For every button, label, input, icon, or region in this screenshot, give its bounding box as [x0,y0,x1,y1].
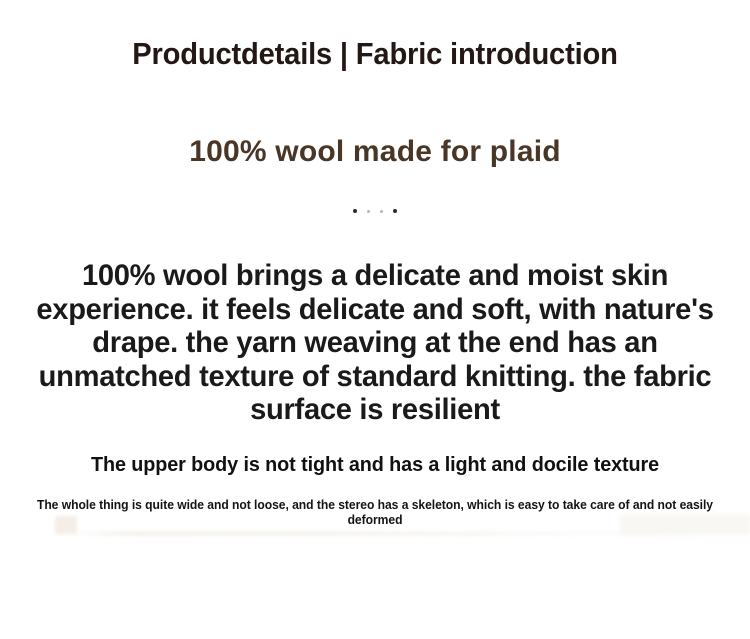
separator-dot-2 [367,210,370,213]
fine-print-note: The whole thing is quite wide and not lo… [35,498,716,528]
separator-dot-4 [393,209,397,213]
separator-dot-1 [353,209,357,213]
separator-dot-3 [380,210,383,213]
page-title: Productdetails | Fabric introduction [23,32,728,76]
fit-description-line: The upper body is not tight and has a li… [4,452,747,479]
photo-edge-band [60,531,700,536]
product-details-page: Productdetails | Fabric introduction 100… [0,0,750,639]
dot-separator [0,205,750,217]
fabric-description-paragraph: 100% wool brings a delicate and moist sk… [25,259,725,427]
fabric-headline: 100% wool made for plaid [0,131,750,173]
